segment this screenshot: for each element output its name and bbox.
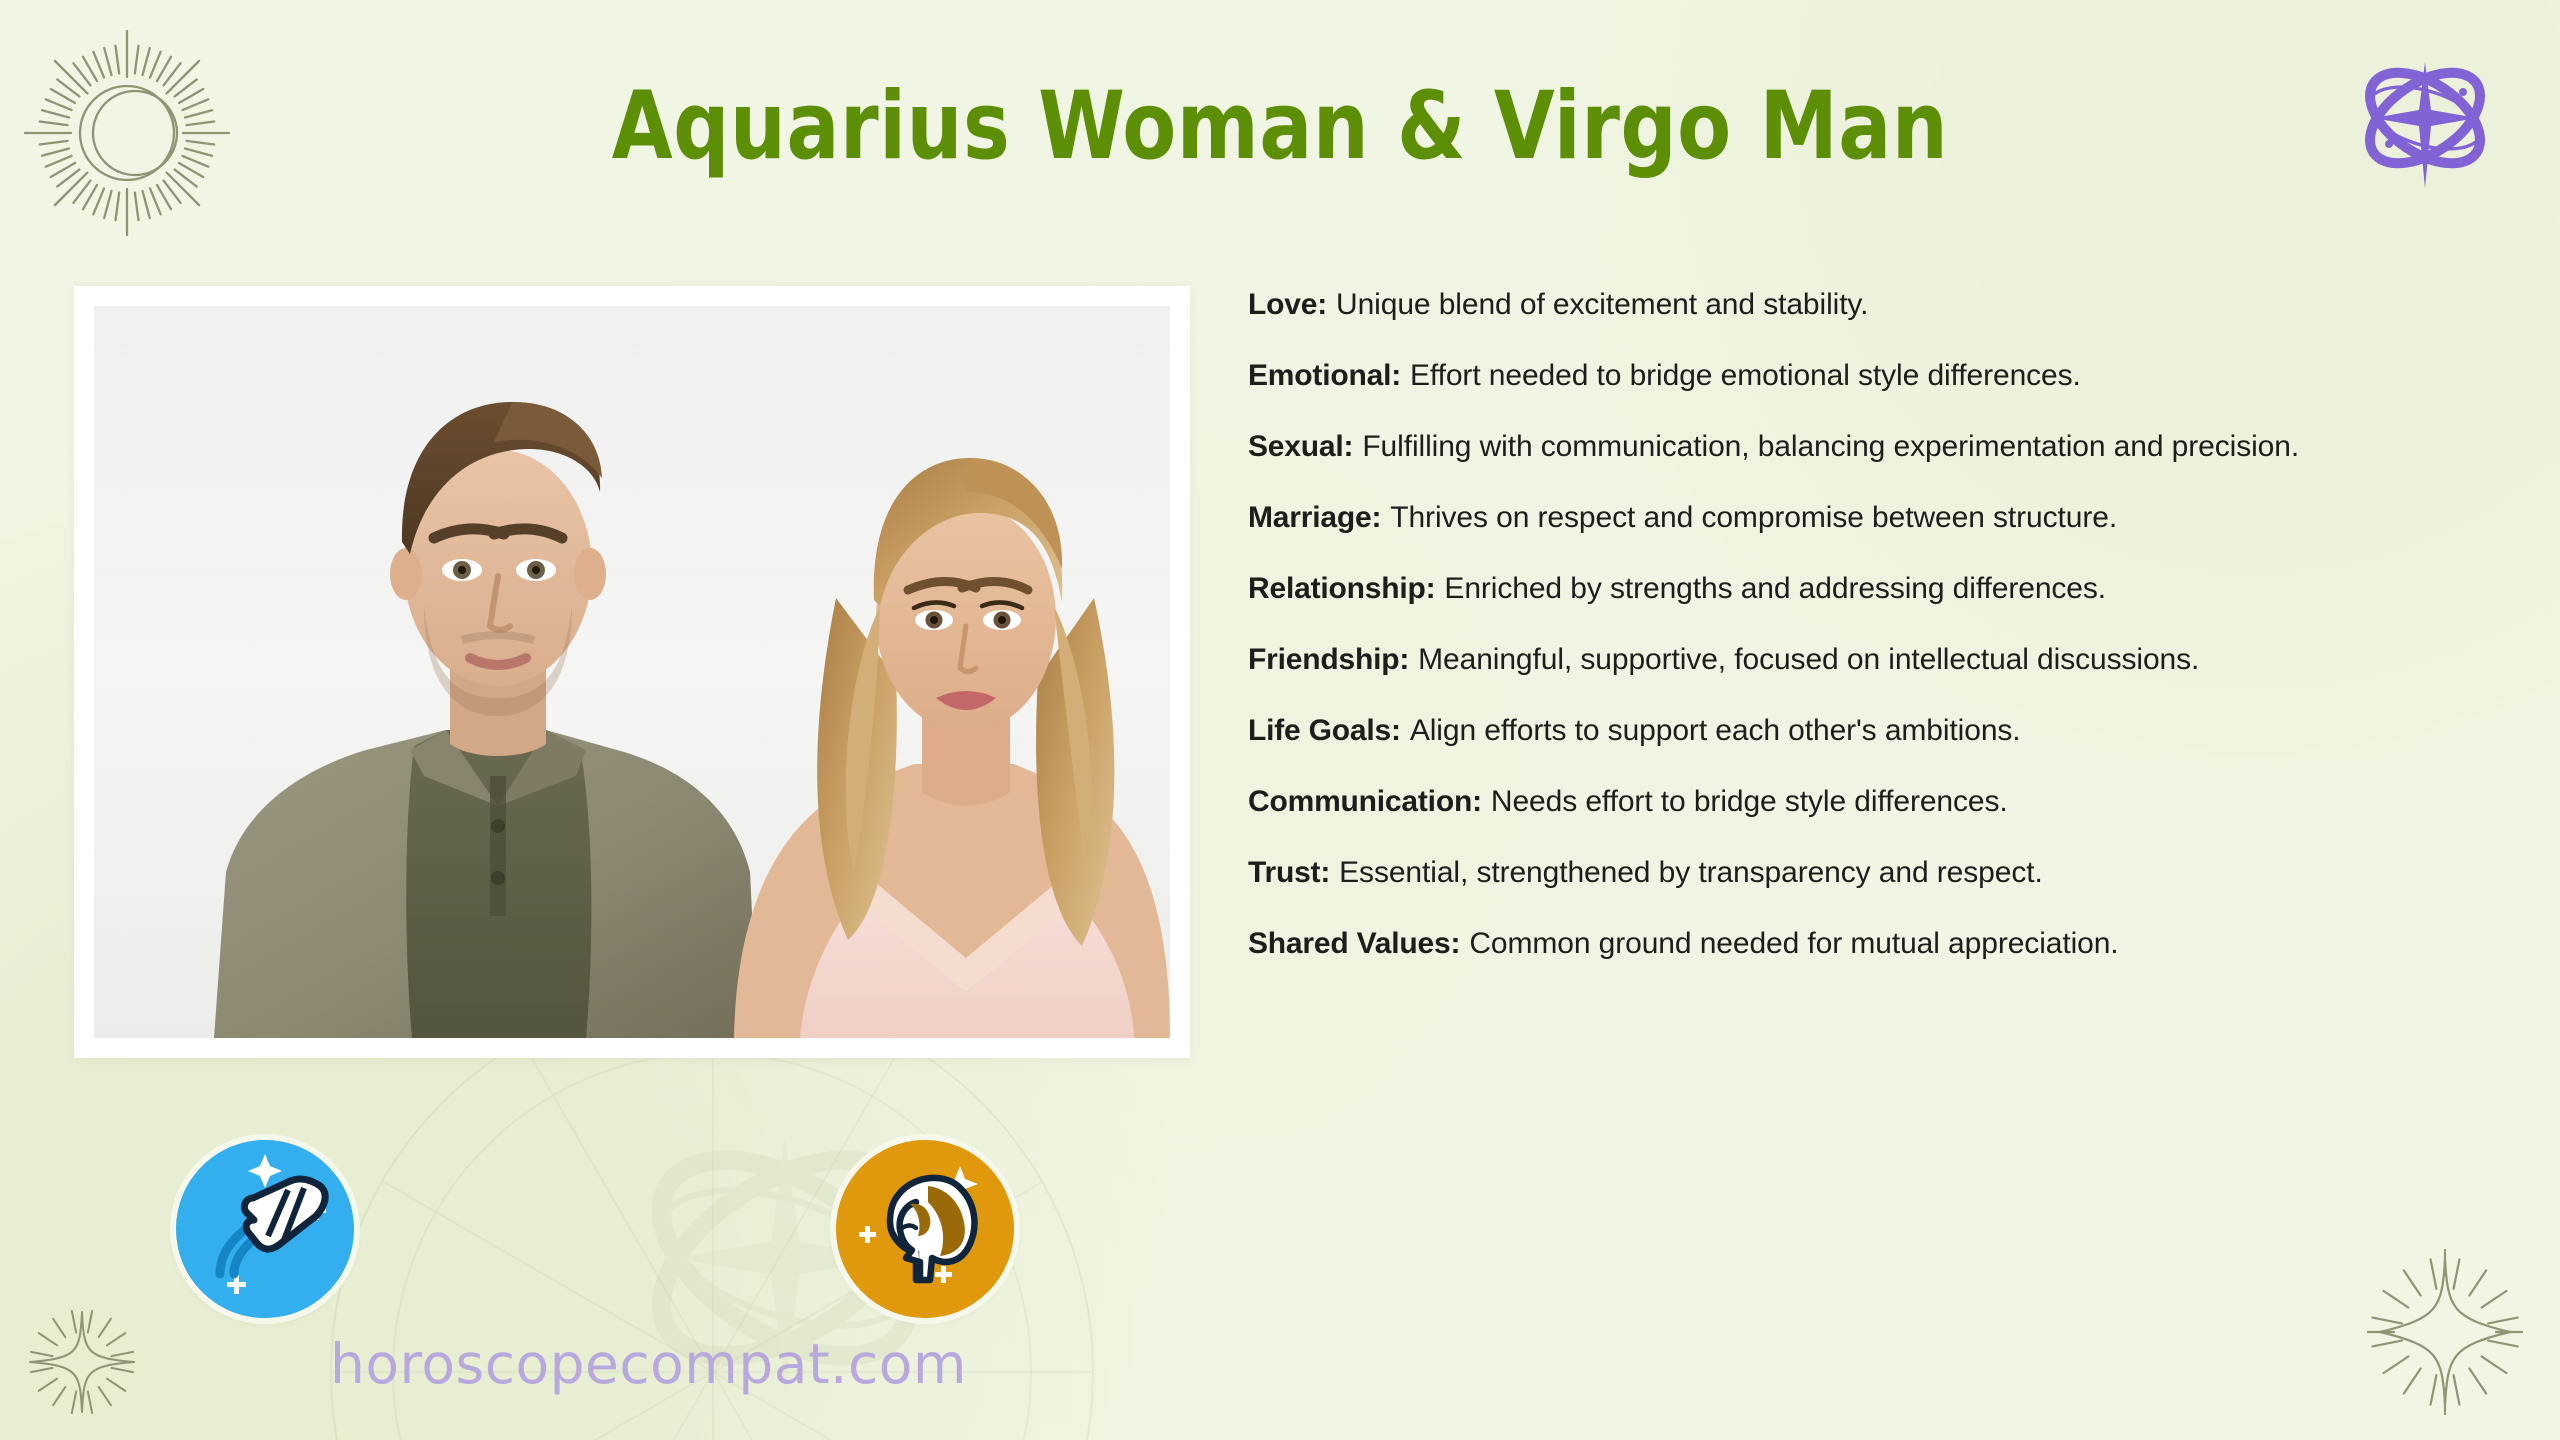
attribute-value: Meaningful, supportive, focused on intel… xyxy=(1418,643,2199,676)
attribute-value: Thrives on respect and compromise betwee… xyxy=(1390,501,2117,534)
attribute-label: Life Goals: xyxy=(1248,714,1401,747)
compatibility-attributes-list: Love:Unique blend of excitement and stab… xyxy=(1248,288,2508,961)
attribute-value: Needs effort to bridge style differences… xyxy=(1491,785,2008,818)
couple-photo-frame xyxy=(74,286,1190,1058)
attribute-row: Shared Values:Common ground needed for m… xyxy=(1248,927,2508,961)
attribute-value: Align efforts to support each other's am… xyxy=(1410,714,2021,747)
page-title: Aquarius Woman & Virgo Man xyxy=(90,72,2471,181)
attribute-label: Friendship: xyxy=(1248,643,1409,676)
attribute-row: Relationship:Enriched by strengths and a… xyxy=(1248,572,2508,606)
attribute-row: Sexual:Fulfilling with communication, ba… xyxy=(1248,430,2508,464)
attribute-row: Love:Unique blend of excitement and stab… xyxy=(1248,288,2508,322)
attribute-value: Fulfilling with communication, balancing… xyxy=(1362,430,2299,463)
attribute-label: Trust: xyxy=(1248,856,1330,889)
attribute-label: Emotional: xyxy=(1248,359,1401,392)
attribute-label: Marriage: xyxy=(1248,501,1381,534)
attribute-value: Essential, strengthened by transparency … xyxy=(1339,856,2043,889)
attribute-value: Unique blend of excitement and stability… xyxy=(1336,288,1868,321)
attribute-value: Enriched by strengths and addressing dif… xyxy=(1444,572,2106,605)
attribute-row: Marriage:Thrives on respect and compromi… xyxy=(1248,501,2508,535)
attribute-row: Emotional:Effort needed to bridge emotio… xyxy=(1248,359,2508,393)
attribute-label: Sexual: xyxy=(1248,430,1353,463)
badge-virgo[interactable] xyxy=(836,1140,1014,1318)
site-watermark: horoscopecompat.com xyxy=(330,1332,967,1396)
attribute-row: Trust:Essential, strengthened by transpa… xyxy=(1248,856,2508,890)
attribute-label: Relationship: xyxy=(1248,572,1435,605)
couple-photo xyxy=(94,306,1170,1038)
attribute-label: Communication: xyxy=(1248,785,1482,818)
attribute-row: Friendship:Meaningful, supportive, focus… xyxy=(1248,643,2508,677)
attribute-label: Love: xyxy=(1248,288,1327,321)
infographic-canvas: Aquarius Woman & Virgo Man xyxy=(0,0,2560,1440)
badge-aquarius[interactable] xyxy=(176,1140,354,1318)
attribute-row: Communication:Needs effort to bridge sty… xyxy=(1248,785,2508,819)
attribute-label: Shared Values: xyxy=(1248,927,1460,960)
attribute-value: Effort needed to bridge emotional style … xyxy=(1410,359,2081,392)
attribute-value: Common ground needed for mutual apprecia… xyxy=(1469,927,2118,960)
attribute-row: Life Goals:Align efforts to support each… xyxy=(1248,714,2508,748)
